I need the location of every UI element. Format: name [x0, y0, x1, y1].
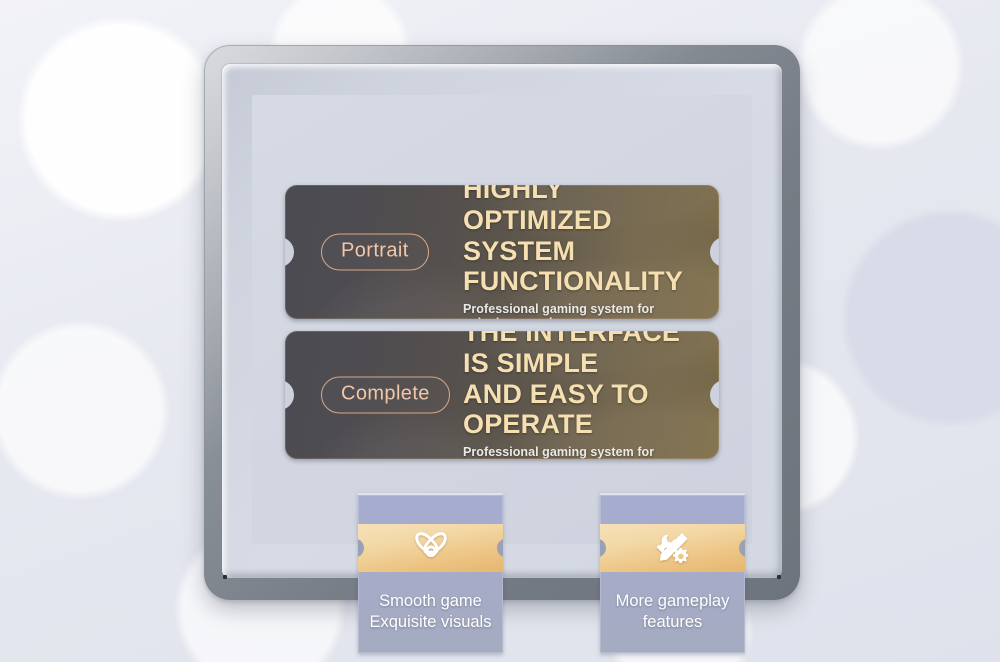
feature-card-band: [600, 524, 745, 572]
feature-card-label-line-1: Smooth game: [364, 591, 497, 612]
banner-text-block-complete: THE INTERFACE IS SIMPLE AND EASY TO OPER…: [463, 331, 693, 459]
banner-subtitle: Professional gaming system for enjoying …: [463, 445, 693, 459]
atom-icon: [410, 527, 452, 569]
corner-dot-bottom-right: [777, 575, 781, 579]
feature-card-row: Smooth game Exquisite visuals: [285, 493, 719, 655]
card-notch-left: [358, 539, 364, 558]
feature-card-more-gameplay[interactable]: More gameplay features: [600, 493, 745, 653]
feature-card-band: [358, 524, 503, 572]
card-notch-left: [600, 539, 606, 558]
banner-complete[interactable]: Complete THE INTERFACE IS SIMPLE AND EAS…: [285, 331, 719, 459]
banner-notch-left: [285, 380, 294, 410]
device-frame: Portrait HIGHLY OPTIMIZED SYSTEM FUNCTIO…: [204, 45, 800, 600]
banner-notch-right: [710, 380, 719, 410]
tools-icon: [652, 527, 694, 569]
feature-card-smooth-game[interactable]: Smooth game Exquisite visuals: [358, 493, 503, 653]
banner-subtitle: Professional gaming system for enjoying …: [463, 302, 693, 319]
card-notch-right: [739, 539, 745, 558]
feature-card-label-line-1: More gameplay: [606, 591, 739, 612]
frame-bevel: Portrait HIGHLY OPTIMIZED SYSTEM FUNCTIO…: [222, 64, 782, 578]
banner-title-line-2: SYSTEM FUNCTIONALITY: [463, 236, 693, 298]
banner-notch-left: [285, 237, 294, 267]
feature-card-label-line-2: Exquisite visuals: [364, 612, 497, 633]
feature-card-label: Smooth game Exquisite visuals: [364, 591, 497, 633]
banner-portrait[interactable]: Portrait HIGHLY OPTIMIZED SYSTEM FUNCTIO…: [285, 185, 719, 319]
banner-notch-right: [710, 237, 719, 267]
corner-dot-bottom-left: [223, 575, 227, 579]
banner-title-line-2: AND EASY TO OPERATE: [463, 379, 693, 441]
banner-title-line-1: THE INTERFACE IS SIMPLE: [463, 331, 693, 379]
banner-text-block-portrait: HIGHLY OPTIMIZED SYSTEM FUNCTIONALITY Pr…: [463, 185, 693, 319]
feature-card-label-line-2: features: [606, 612, 739, 633]
card-notch-right: [497, 539, 503, 558]
feature-card-label: More gameplay features: [606, 591, 739, 633]
banner-pill-portrait[interactable]: Portrait: [321, 234, 429, 271]
banner-pill-complete[interactable]: Complete: [321, 377, 450, 414]
screen-area: Portrait HIGHLY OPTIMIZED SYSTEM FUNCTIO…: [252, 95, 752, 544]
banner-title-line-1: HIGHLY OPTIMIZED: [463, 185, 693, 236]
